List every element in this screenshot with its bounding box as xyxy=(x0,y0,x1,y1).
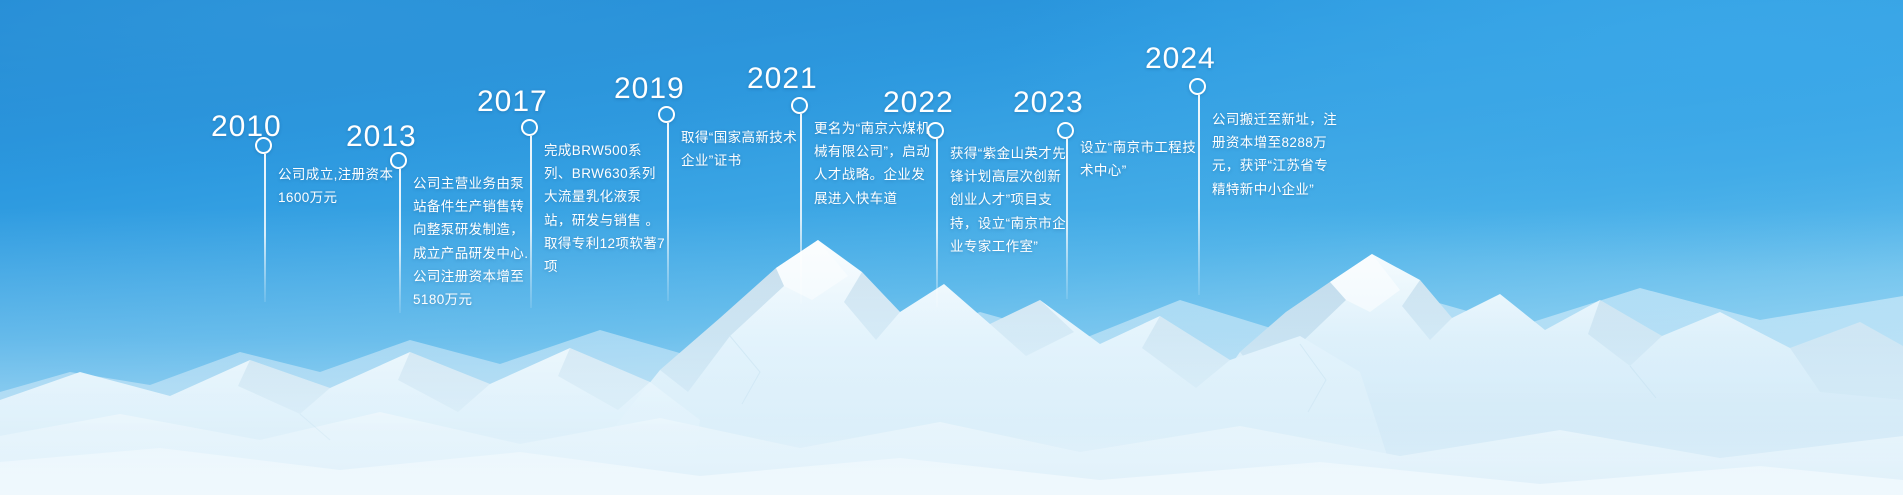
timeline-infographic: 2010 公司成立,注册资本1600万元 2013 公司主营业务由泵站备件生产销… xyxy=(0,0,1903,495)
timeline-description: 公司成立,注册资本1600万元 xyxy=(278,163,406,209)
timeline-description: 更名为“南京六煤机械有限公司”，启动人才战略。企业发展进入快车道 xyxy=(814,117,936,210)
timeline-stem-line xyxy=(1066,139,1068,299)
timeline-year-label: 2013 xyxy=(346,120,417,154)
timeline-node-dot-icon[interactable] xyxy=(390,152,407,169)
timeline-year-label: 2023 xyxy=(1013,86,1084,120)
timeline-year-label: 2022 xyxy=(883,86,954,120)
timeline-node-dot-icon[interactable] xyxy=(791,97,808,114)
timeline-node-dot-icon[interactable] xyxy=(658,106,675,123)
timeline-year-label: 2024 xyxy=(1145,42,1216,76)
timeline-stem-line xyxy=(1198,95,1200,295)
timeline: 2010 公司成立,注册资本1600万元 2013 公司主营业务由泵站备件生产销… xyxy=(0,0,1903,495)
timeline-description: 获得“紫金山英才先锋计划高层次创新创业人才”项目支持，设立“南京市企业专家工作室… xyxy=(950,142,1072,258)
timeline-description: 公司主营业务由泵站备件生产销售转向整泵研发制造，成立产品研发中心.公司注册资本增… xyxy=(413,172,537,311)
timeline-node-dot-icon[interactable] xyxy=(255,137,272,154)
timeline-node-dot-icon[interactable] xyxy=(1189,78,1206,95)
timeline-node-dot-icon[interactable] xyxy=(521,119,538,136)
timeline-stem-line xyxy=(667,123,669,301)
timeline-stem-line xyxy=(264,154,266,302)
timeline-node-dot-icon[interactable] xyxy=(927,122,944,139)
timeline-year-label: 2021 xyxy=(747,62,818,96)
timeline-description: 取得“国家高新技术企业”证书 xyxy=(681,126,809,172)
timeline-stem-line xyxy=(530,136,532,308)
timeline-year-label: 2017 xyxy=(477,85,548,119)
timeline-stem-line xyxy=(936,139,938,307)
timeline-stem-line xyxy=(800,114,802,304)
timeline-stem-line xyxy=(399,169,401,313)
timeline-year-label: 2010 xyxy=(211,110,282,144)
timeline-description: 公司搬迁至新址，注册资本增至8288万元，获评“江苏省专精特新中小企业” xyxy=(1212,108,1340,201)
timeline-description: 完成BRW500系列、BRW630系列大流量乳化液泵站，研发与销售 。取得专利1… xyxy=(544,139,669,278)
timeline-node-dot-icon[interactable] xyxy=(1057,122,1074,139)
timeline-description: 设立“南京市工程技术中心” xyxy=(1080,136,1202,182)
timeline-year-label: 2019 xyxy=(614,72,685,106)
